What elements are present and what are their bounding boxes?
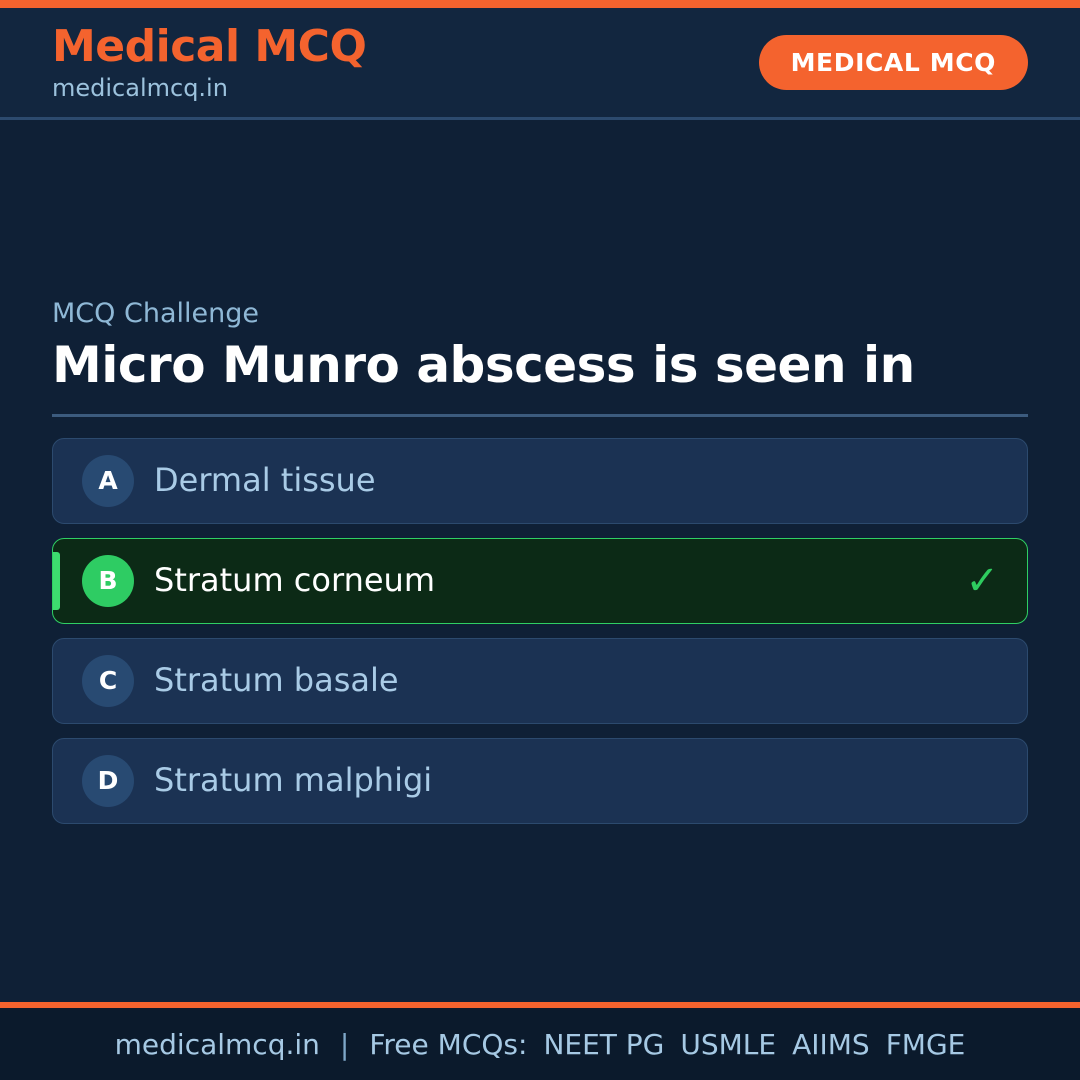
- top-accent-bar: [0, 0, 1080, 8]
- brand-title: Medical MCQ: [52, 24, 366, 70]
- option-d[interactable]: D Stratum malphigi: [52, 738, 1028, 824]
- option-b[interactable]: B Stratum corneum ✓: [52, 538, 1028, 624]
- header-badge[interactable]: MEDICAL MCQ: [759, 35, 1028, 90]
- option-label: Dermal tissue: [154, 463, 376, 498]
- question-kicker: MCQ Challenge: [52, 298, 1028, 330]
- question-divider: [52, 414, 1028, 417]
- mcq-card: Medical MCQ medicalmcq.in MEDICAL MCQ MC…: [0, 0, 1080, 1080]
- options-list: A Dermal tissue B Stratum corneum ✓ C St…: [52, 438, 1028, 824]
- question-title: Micro Munro abscess is seen in: [52, 337, 1028, 393]
- footer-exam-neetpg[interactable]: NEET PG: [543, 1028, 664, 1061]
- footer-bar: medicalmcq.in | Free MCQs: NEET PG USMLE…: [0, 1008, 1080, 1080]
- brand-subtitle: medicalmcq.in: [52, 76, 366, 101]
- footer-separator: |: [340, 1028, 349, 1061]
- footer-text: medicalmcq.in | Free MCQs: NEET PG USMLE…: [115, 1028, 966, 1061]
- option-c[interactable]: C Stratum basale: [52, 638, 1028, 724]
- option-a[interactable]: A Dermal tissue: [52, 438, 1028, 524]
- option-label: Stratum basale: [154, 663, 399, 698]
- main-content: MCQ Challenge Micro Munro abscess is see…: [0, 120, 1080, 1002]
- header-bar: Medical MCQ medicalmcq.in MEDICAL MCQ: [0, 8, 1080, 120]
- check-icon: ✓: [965, 561, 999, 601]
- option-label: Stratum malphigi: [154, 763, 432, 798]
- footer-exam-usmle[interactable]: USMLE: [680, 1028, 776, 1061]
- footer-exam-aiims[interactable]: AIIMS: [792, 1028, 870, 1061]
- footer-exam-fmge[interactable]: FMGE: [886, 1028, 966, 1061]
- option-letter-badge: A: [82, 455, 134, 507]
- footer-site-link[interactable]: medicalmcq.in: [115, 1028, 320, 1061]
- brand-block: Medical MCQ medicalmcq.in: [52, 24, 366, 101]
- option-letter-badge: D: [82, 755, 134, 807]
- option-letter-badge: C: [82, 655, 134, 707]
- footer-label: Free MCQs:: [369, 1028, 527, 1061]
- option-letter-badge: B: [82, 555, 134, 607]
- option-label: Stratum corneum: [154, 563, 435, 598]
